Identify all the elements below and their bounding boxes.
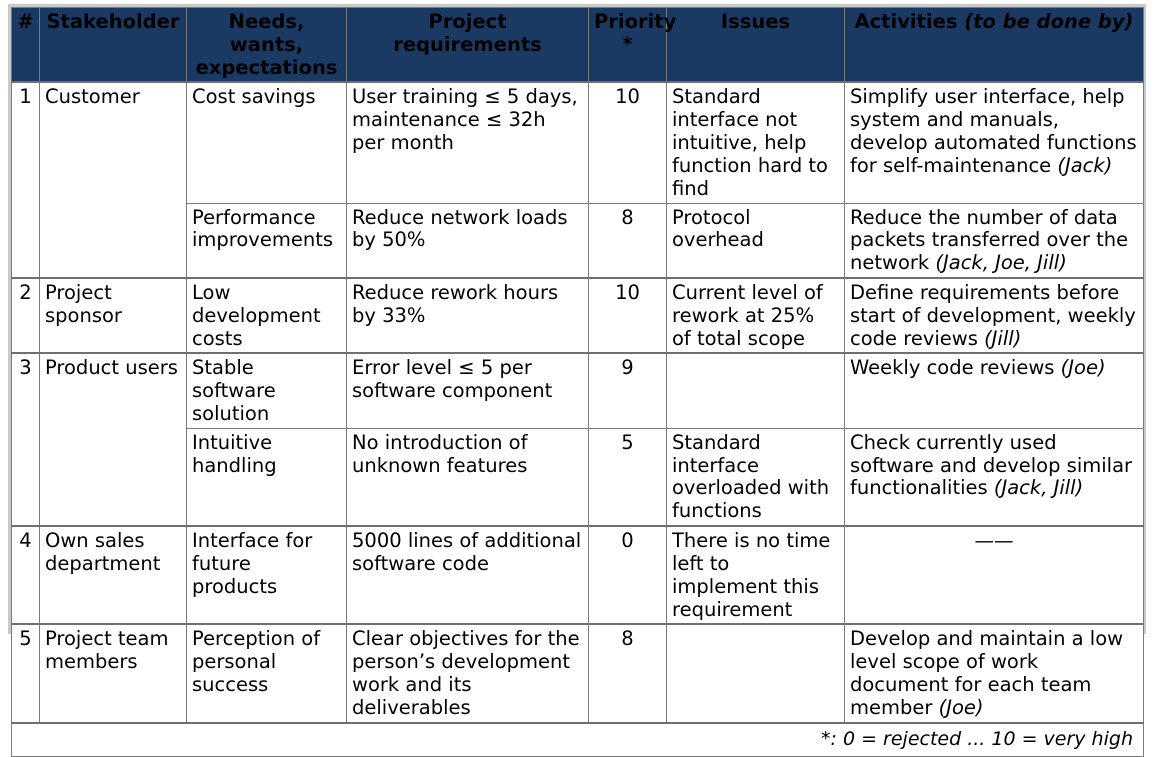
column-header-requirements-line1: Project xyxy=(428,10,506,33)
column-header-priority-asterisk: * xyxy=(622,33,632,56)
column-header-activities-main: Activities xyxy=(855,10,965,33)
cell-priority: 10 xyxy=(589,82,667,203)
cell-stakeholder: Project team members xyxy=(40,624,187,722)
cell-issues xyxy=(667,353,845,428)
cell-priority: 5 xyxy=(589,428,667,526)
cell-needs: Intuitive handling xyxy=(187,428,347,526)
cell-activities: Define requirements before start of deve… xyxy=(845,278,1144,353)
cell-number: 5 xyxy=(12,624,40,722)
column-header-activities-note: (to be done by) xyxy=(964,10,1133,33)
cell-needs: Cost savings xyxy=(187,82,347,203)
cell-priority: 8 xyxy=(589,203,667,278)
column-header-needs: Needs, wants, expectations xyxy=(187,8,347,83)
stakeholder-analysis-table: # Stakeholder Needs, wants, expectations… xyxy=(11,7,1144,757)
screenshot-canvas: # Stakeholder Needs, wants, expectations… xyxy=(0,0,1154,643)
cell-issues: Protocol overhead xyxy=(667,203,845,278)
cell-number: 1 xyxy=(12,82,40,278)
cell-requirements: User training ≤ 5 days, maintenance ≤ 32… xyxy=(347,82,589,203)
cell-activities: Simplify user interface, help system and… xyxy=(845,82,1144,203)
table-header: # Stakeholder Needs, wants, expectations… xyxy=(12,8,1144,83)
cell-activities: Develop and maintain a low level scope o… xyxy=(845,624,1144,722)
column-header-priority: Priority * xyxy=(589,8,667,83)
cell-activities-text: Check currently used software and develo… xyxy=(850,431,1132,500)
cell-needs: Low development costs xyxy=(187,278,347,353)
column-header-activities: Activities (to be done by) xyxy=(845,8,1144,83)
cell-issues xyxy=(667,624,845,722)
cell-stakeholder: Product users xyxy=(40,353,187,526)
column-header-stakeholder: Stakeholder xyxy=(40,8,187,83)
cell-stakeholder: Project sponsor xyxy=(40,278,187,353)
cell-activities-text: —— xyxy=(975,529,1014,552)
column-header-priority-line1: Priority xyxy=(594,10,676,33)
cell-activities-owner: (Jack, Jill) xyxy=(994,476,1083,499)
cell-needs: Interface for future products xyxy=(187,526,347,624)
table-row: 4Own sales departmentInterface for futur… xyxy=(12,526,1144,624)
column-header-number: # xyxy=(12,8,40,83)
cell-requirements: Reduce rework hours by 33% xyxy=(347,278,589,353)
cell-number: 2 xyxy=(12,278,40,353)
cell-priority: 0 xyxy=(589,526,667,624)
cell-issues: Standard interface overloaded with funct… xyxy=(667,428,845,526)
cell-activities-text: Develop and maintain a low level scope o… xyxy=(850,627,1123,718)
cell-priority: 8 xyxy=(589,624,667,722)
cell-activities-owner: (Jill) xyxy=(984,327,1021,350)
cell-needs: Stable software solution xyxy=(187,353,347,428)
cell-activities-text: Weekly code reviews xyxy=(850,356,1061,379)
cell-activities: Reduce the number of data packets transf… xyxy=(845,203,1144,278)
table-row: 3Product usersStable software solutionEr… xyxy=(12,353,1144,428)
cell-requirements: 5000 lines of additional software code xyxy=(347,526,589,624)
cell-requirements: Reduce network loads by 50% xyxy=(347,203,589,278)
cell-stakeholder: Own sales department xyxy=(40,526,187,624)
header-row: # Stakeholder Needs, wants, expectations… xyxy=(12,8,1144,83)
table-row: 1CustomerCost savingsUser training ≤ 5 d… xyxy=(12,82,1144,203)
column-header-requirements-line2: requirements xyxy=(393,33,542,56)
cell-requirements: No introduction of unknown features xyxy=(347,428,589,526)
cell-activities-owner: (Joe) xyxy=(939,696,984,719)
footnote-text: *: 0 = rejected ... 10 = very high xyxy=(12,723,1144,757)
cell-needs: Performance improvements xyxy=(187,203,347,278)
table-footnote-row: *: 0 = rejected ... 10 = very high xyxy=(12,723,1144,757)
cell-activities-owner: (Jack, Joe, Jill) xyxy=(935,251,1066,274)
cell-activities: Weekly code reviews (Joe) xyxy=(845,353,1144,428)
column-header-requirements: Project requirements xyxy=(347,8,589,83)
cell-activities: Check currently used software and develo… xyxy=(845,428,1144,526)
table-row: 5Project team membersPerception of perso… xyxy=(12,624,1144,722)
column-header-needs-line1: Needs, wants, xyxy=(229,10,305,56)
cell-issues: Standard interface not intuitive, help f… xyxy=(667,82,845,203)
cell-issues: Current level of rework at 25% of total … xyxy=(667,278,845,353)
cell-stakeholder: Customer xyxy=(40,82,187,278)
cell-priority: 10 xyxy=(589,278,667,353)
cell-requirements: Error level ≤ 5 per software component xyxy=(347,353,589,428)
cell-activities-owner: (Jack) xyxy=(1057,154,1112,177)
column-header-needs-line2: expectations xyxy=(196,56,338,79)
cell-priority: 9 xyxy=(589,353,667,428)
cell-number: 3 xyxy=(12,353,40,526)
table-row: 2Project sponsorLow development costsRed… xyxy=(12,278,1144,353)
cell-number: 4 xyxy=(12,526,40,624)
cell-activities-owner: (Joe) xyxy=(1061,356,1106,379)
cell-activities: —— xyxy=(845,526,1144,624)
table-body: 1CustomerCost savingsUser training ≤ 5 d… xyxy=(12,82,1144,756)
column-header-issues: Issues xyxy=(667,8,845,83)
cell-requirements: Clear objectives for the person’s develo… xyxy=(347,624,589,722)
cell-needs: Perception of personal success xyxy=(187,624,347,722)
cell-issues: There is no time left to implement this … xyxy=(667,526,845,624)
